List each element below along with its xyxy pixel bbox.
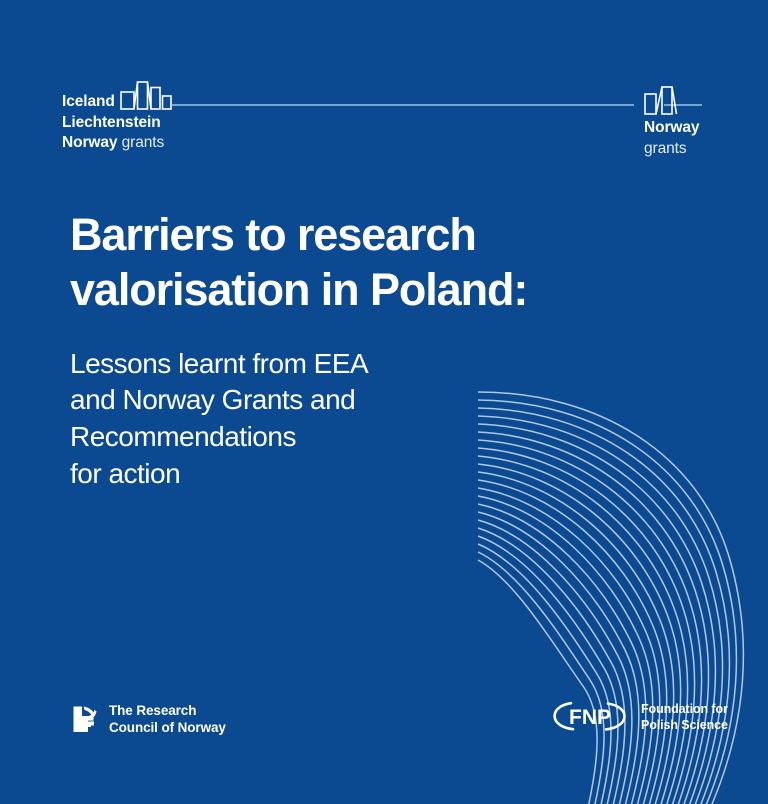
norway-grants-name: Norway (644, 118, 764, 139)
fnp-oval-mark: FNP (551, 700, 629, 734)
page-subtitle: Lessons learnt from EEA and Norway Grant… (70, 318, 710, 493)
research-council-of-norway-logo: The Research Council of Norway (72, 702, 226, 737)
research-council-of-norway-name: The Research Council of Norway (109, 702, 226, 737)
fnp-line-2: Polish Science (641, 717, 728, 733)
norway-grants-logo: Norway grants (644, 118, 764, 159)
fnp-acronym: FNP (569, 706, 611, 729)
subtitle-line-2: and Norway Grants and (70, 382, 710, 419)
fnp-logo: FNP Foundation for Polish Science (551, 700, 728, 734)
eea-grants-buildings-icon (120, 78, 172, 110)
eea-logo-grants: grants (122, 134, 164, 151)
eea-logo-norway: Norway (62, 134, 117, 151)
eea-grants-logo: Iceland Liechtenstein Norway grants (62, 92, 242, 154)
partner-logos: The Research Council of Norway FNP Found… (0, 694, 768, 804)
eea-logo-line-2: Liechtenstein (62, 113, 242, 134)
rcn-line-2: Council of Norway (109, 719, 226, 736)
title-line-2: valorisation in Poland: (70, 263, 710, 318)
title-line-1: Barriers to research (70, 208, 710, 263)
subtitle-line-3: Recommendations (70, 419, 710, 456)
rcn-line-1: The Research (109, 702, 226, 719)
subtitle-line-1: Lessons learnt from EEA (70, 346, 710, 383)
fnp-name: Foundation for Polish Science (641, 701, 728, 734)
research-council-of-norway-mark (72, 704, 98, 734)
norway-grants-sub: grants (644, 139, 764, 160)
report-cover: Iceland Liechtenstein Norway grants Norw… (0, 0, 768, 804)
title-block: Barriers to research valorisation in Pol… (70, 208, 710, 492)
eea-logo-line-3: Norway grants (62, 133, 242, 154)
page-title: Barriers to research valorisation in Pol… (70, 208, 710, 318)
fnp-line-1: Foundation for (641, 701, 728, 717)
top-logo-band: Iceland Liechtenstein Norway grants Norw… (0, 0, 768, 175)
subtitle-line-4: for action (70, 456, 710, 493)
norway-grants-n-icon (644, 86, 678, 116)
